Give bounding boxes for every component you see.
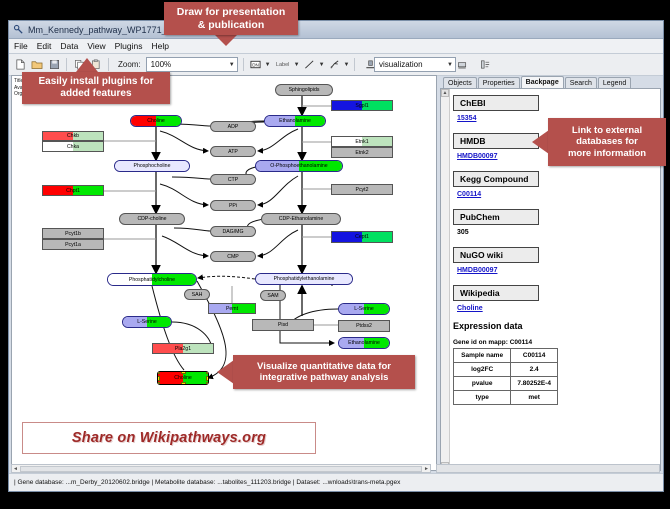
table-cell: 2.4 bbox=[511, 363, 558, 377]
chevron-down-icon: ▼ bbox=[229, 62, 235, 68]
metabolite-label: Phosphocholine bbox=[134, 163, 171, 169]
metabolite-node-phosphocholine[interactable]: Phosphocholine bbox=[114, 160, 190, 172]
callout-visualize: Visualize quantitative data for integrat… bbox=[233, 355, 415, 389]
table-row: pvalue7.80252E-4 bbox=[454, 377, 558, 391]
metabolite-label: CDP-Ethanolamine bbox=[279, 216, 323, 222]
callout-link-arrow-icon bbox=[532, 130, 549, 154]
statusbar: | Gene database: ...m_Derby_20120602.bri… bbox=[9, 473, 663, 491]
table-cell: pvalue bbox=[454, 377, 511, 391]
metabolite-label: O-Phosphoethanolamine bbox=[270, 163, 327, 169]
gene-node-ptdss2[interactable]: Ptdss2 bbox=[338, 320, 390, 332]
menubar: File Edit Data View Plugins Help bbox=[9, 39, 663, 54]
metabolite-label: L-Serine bbox=[137, 319, 157, 325]
metabolite-label: Sphingolipids bbox=[289, 87, 320, 93]
gene-node-pcyt2[interactable]: Pcyt2 bbox=[331, 184, 393, 195]
datanode-dropdown-icon[interactable]: ▼ bbox=[265, 62, 271, 68]
receptor-dropdown-icon[interactable]: ▼ bbox=[344, 62, 350, 68]
receptor-icon[interactable] bbox=[328, 58, 342, 72]
table-row: log2FC2.4 bbox=[454, 363, 558, 377]
gene-label: Etnk1 bbox=[355, 139, 368, 145]
metabolite-node-choline_bottom[interactable]: Choline bbox=[157, 371, 209, 385]
toolbar-separator-4 bbox=[354, 58, 355, 71]
metabolite-node-sah[interactable]: SAH bbox=[184, 289, 210, 300]
backpage-heading: PubChem bbox=[453, 209, 539, 225]
visualization-value: visualization bbox=[379, 60, 423, 69]
zoom-label: Zoom: bbox=[118, 60, 141, 69]
save-icon[interactable] bbox=[47, 58, 61, 72]
gene-label: Pemt bbox=[226, 306, 238, 312]
metabolite-node-ethanolamine_right[interactable]: Ethanolamine bbox=[338, 337, 390, 349]
cofactor-node[interactable]: ADP bbox=[210, 121, 256, 132]
metabolite-label: CDP-choline bbox=[137, 216, 166, 222]
menu-file[interactable]: File bbox=[14, 41, 28, 51]
cofactor-label: CMP bbox=[227, 254, 239, 260]
gene-node-pisd[interactable]: Pisd bbox=[252, 319, 314, 331]
backpage-link[interactable]: Choline bbox=[457, 305, 656, 312]
backpage-heading: HMDB bbox=[453, 133, 539, 149]
side-hscrollbar[interactable] bbox=[436, 464, 660, 473]
backpage-heading: Kegg Compound bbox=[453, 171, 539, 187]
scroll-up-icon[interactable]: ▲ bbox=[441, 89, 449, 97]
metabolite-node-l_serine_left[interactable]: L-Serine bbox=[122, 316, 172, 328]
cofactor-node[interactable]: ATP bbox=[210, 146, 256, 157]
backpage-link[interactable]: HMDB00097 bbox=[457, 267, 656, 274]
metabolite-label: L-Serine bbox=[354, 306, 374, 312]
cofactor-node[interactable]: CMP bbox=[210, 251, 256, 262]
tab-backpage[interactable]: Backpage bbox=[521, 76, 564, 88]
svg-text:DN: DN bbox=[252, 62, 259, 67]
app-icon bbox=[13, 24, 24, 35]
screenshot-stage: Mm_Kennedy_pathway_WP1771_45176.gpml Fil… bbox=[0, 0, 670, 509]
line-icon[interactable] bbox=[303, 58, 317, 72]
callout-draw-arrow-icon bbox=[215, 35, 237, 46]
gene-label: Pcyt1b bbox=[65, 231, 81, 237]
gene-node-pcyt1a[interactable]: Pcyt1a bbox=[42, 239, 104, 250]
expression-data-title: Expression data bbox=[453, 321, 656, 331]
canvas-hscrollbar[interactable]: ◄ ► bbox=[11, 464, 431, 473]
gene-label: Sgpl1 bbox=[355, 103, 368, 109]
backpage-heading: ChEBI bbox=[453, 95, 539, 111]
metabolite-node-cdp_ethanolamine[interactable]: CDP-Ethanolamine bbox=[261, 213, 341, 225]
metabolite-node-o_phosphoethanolamine[interactable]: O-Phosphoethanolamine bbox=[255, 160, 343, 172]
menu-view[interactable]: View bbox=[87, 41, 105, 51]
tab-properties[interactable]: Properties bbox=[478, 77, 520, 88]
share-banner-text: Share on Wikipathways.org bbox=[72, 430, 266, 446]
callout-plugins-text: Easily install plugins for added feature… bbox=[38, 76, 153, 100]
group-icon[interactable] bbox=[455, 58, 469, 72]
gene-node-chkb[interactable]: Chkb bbox=[42, 131, 104, 141]
metabolite-label: Ethanolamine bbox=[348, 340, 380, 346]
gene-node-chka[interactable]: Chka bbox=[42, 141, 104, 152]
callout-draw-text: Draw for presentation & publication bbox=[177, 6, 286, 31]
cofactor-label: ADP bbox=[228, 124, 239, 130]
gene-label: Pcyt1a bbox=[65, 242, 81, 248]
gene-label: Etnk2 bbox=[355, 150, 368, 156]
label-icon[interactable]: Label bbox=[274, 58, 292, 72]
side-tabs: ObjectsPropertiesBackpageSearchLegend bbox=[440, 75, 661, 88]
metabolite-node-cdp_choline[interactable]: CDP-choline bbox=[119, 213, 185, 225]
callout-plugins: Easily install plugins for added feature… bbox=[22, 72, 170, 104]
cofactor-node[interactable]: DAG/MG bbox=[210, 226, 256, 237]
table-row: Sample nameC00114 bbox=[454, 349, 558, 363]
gene-label: Cept1 bbox=[355, 234, 369, 240]
callout-link: Link to external databases for more info… bbox=[548, 118, 666, 166]
gene-label: Chkb bbox=[67, 133, 79, 139]
table-cell: 7.80252E-4 bbox=[511, 377, 558, 391]
metabolite-node-phosphatidylethanolamine[interactable]: Phosphatidylethanolamine bbox=[255, 273, 353, 285]
share-banner: Share on Wikipathways.org bbox=[22, 422, 316, 454]
tab-legend[interactable]: Legend bbox=[598, 77, 631, 88]
cofactor-label: PPi bbox=[229, 203, 237, 209]
status-text: | Gene database: ...m_Derby_20120602.bri… bbox=[9, 479, 400, 486]
metabolite-label: SAH bbox=[192, 292, 203, 298]
open-icon[interactable] bbox=[30, 58, 44, 72]
metabolite-label: SAM bbox=[267, 293, 278, 299]
backpage-heading: Wikipedia bbox=[453, 285, 539, 301]
side-scrollbar[interactable]: ▲ ▼ bbox=[441, 89, 450, 470]
metabolite-node-sphingolipids[interactable]: Sphingolipids bbox=[275, 84, 333, 96]
cofactor-node[interactable]: CTP bbox=[210, 174, 256, 185]
gene-label: Chka bbox=[67, 144, 79, 150]
label-dropdown-icon[interactable]: ▼ bbox=[294, 62, 300, 68]
metabolite-label: Choline bbox=[174, 375, 192, 381]
gene-label: Pisd bbox=[278, 322, 288, 328]
backpage-value: 305 bbox=[457, 229, 656, 236]
gene-node-etnk1[interactable]: Etnk1 bbox=[331, 136, 393, 147]
new-icon[interactable] bbox=[13, 58, 27, 72]
toolbar-separator bbox=[66, 58, 67, 71]
cofactor-label: ATP bbox=[228, 149, 238, 155]
cofactor-label: DAG/MG bbox=[222, 229, 243, 235]
callout-draw: Draw for presentation & publication bbox=[164, 2, 298, 35]
pathway-canvas[interactable]: Title: Availa Organ bbox=[11, 75, 437, 471]
scroll-right-icon[interactable]: ► bbox=[423, 466, 430, 472]
gene-node-pla2g1[interactable]: Pla2g1 bbox=[152, 343, 214, 354]
toolbar-separator-3 bbox=[243, 58, 244, 71]
order-icon[interactable] bbox=[478, 58, 492, 72]
metabolite-node-choline_top[interactable]: Choline bbox=[130, 115, 182, 127]
zoom-combo[interactable]: 100% ▼ bbox=[146, 57, 238, 72]
table-cell: Sample name bbox=[454, 349, 511, 363]
table-row: typemet bbox=[454, 391, 558, 405]
table-cell: type bbox=[454, 391, 511, 405]
gene-node-etnk2[interactable]: Etnk2 bbox=[331, 147, 393, 158]
gene-node-cept1[interactable]: Cept1 bbox=[331, 231, 393, 243]
table-cell: log2FC bbox=[454, 363, 511, 377]
line-dropdown-icon[interactable]: ▼ bbox=[319, 62, 325, 68]
metabolite-label: Choline bbox=[147, 118, 165, 124]
hscroll-thumb[interactable] bbox=[20, 466, 422, 472]
metabolite-node-phosphatidylcholine[interactable]: Phosphatidylcholine bbox=[107, 273, 197, 286]
gene-label: Ptdss2 bbox=[356, 323, 372, 329]
metabolite-node-ethanolamine[interactable]: Ethanolamine bbox=[264, 115, 326, 127]
callout-visualize-text: Visualize quantitative data for integrat… bbox=[257, 361, 391, 383]
datanode-icon[interactable]: DN bbox=[249, 58, 263, 72]
callout-link-text: Link to external databases for more info… bbox=[568, 125, 646, 159]
gene-id-line: Gene id on mapp: C00114 bbox=[453, 339, 656, 346]
table-cell: met bbox=[511, 391, 558, 405]
gene-node-sgpl1[interactable]: Sgpl1 bbox=[331, 100, 393, 111]
backpage-link[interactable]: C00114 bbox=[457, 191, 656, 198]
cofactor-node[interactable]: PPi bbox=[210, 200, 256, 211]
table-cell: C00114 bbox=[511, 349, 558, 363]
menu-edit[interactable]: Edit bbox=[37, 41, 52, 51]
metabolite-label: Phosphatidylethanolamine bbox=[274, 276, 335, 282]
visualization-combo[interactable]: visualization ▼ bbox=[374, 57, 456, 72]
expression-table: Sample nameC00114log2FC2.4pvalue7.80252E… bbox=[453, 348, 558, 405]
menu-plugins[interactable]: Plugins bbox=[115, 41, 143, 51]
gene-label: Chpt1 bbox=[66, 188, 80, 194]
gene-node-chpt1[interactable]: Chpt1 bbox=[42, 185, 104, 196]
callout-plugins-arrow-icon bbox=[76, 58, 98, 72]
cofactor-label: CTP bbox=[228, 177, 238, 183]
metabolite-node-l_serine_right[interactable]: L-Serine bbox=[338, 303, 390, 315]
callout-visualize-arrow-icon bbox=[217, 360, 234, 384]
backpage-heading: NuGO wiki bbox=[453, 247, 539, 263]
gene-label: Pcyt2 bbox=[356, 187, 369, 193]
gene-label: Pla2g1 bbox=[175, 346, 191, 352]
zoom-value: 100% bbox=[151, 60, 171, 69]
toolbar-separator-2 bbox=[108, 58, 109, 71]
menu-data[interactable]: Data bbox=[60, 41, 78, 51]
metabolite-node-sam[interactable]: SAM bbox=[260, 290, 286, 301]
metabolite-label: Phosphatidylcholine bbox=[129, 277, 175, 283]
scroll-left-icon[interactable]: ◄ bbox=[12, 466, 19, 472]
gene-node-pcyt1b[interactable]: Pcyt1b bbox=[42, 228, 104, 239]
menu-help[interactable]: Help bbox=[152, 41, 169, 51]
gene-node-pemt[interactable]: Pemt bbox=[208, 303, 256, 314]
metabolite-label: Ethanolamine bbox=[279, 118, 311, 124]
chevron-down-icon-2: ▼ bbox=[447, 62, 453, 68]
window-titlebar: Mm_Kennedy_pathway_WP1771_45176.gpml bbox=[9, 21, 663, 39]
tab-search[interactable]: Search bbox=[565, 77, 597, 88]
tab-objects[interactable]: Objects bbox=[443, 77, 477, 88]
